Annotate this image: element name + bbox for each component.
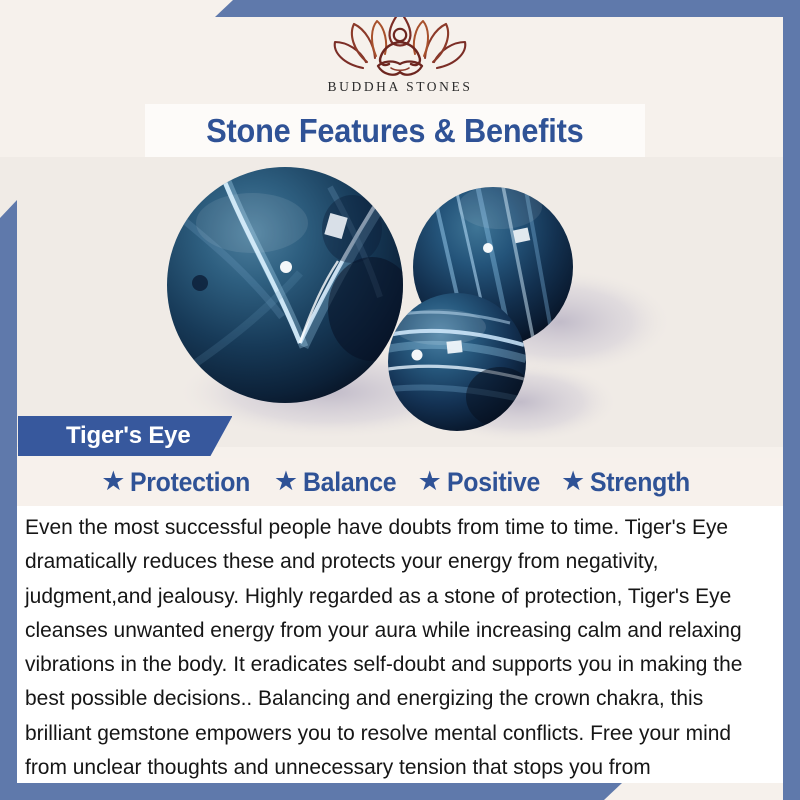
infographic-page: BUDDHA STONES Stone Features & Benefits — [0, 0, 800, 800]
benefit-label: Protection — [130, 467, 250, 498]
star-icon: ★ — [418, 468, 442, 495]
product-name-banner: Tiger's Eye — [18, 416, 232, 456]
tigers-eye-spheres-image — [0, 157, 800, 447]
benefit-label: Balance — [303, 467, 396, 498]
star-icon: ★ — [274, 468, 298, 495]
frame-band-bottom — [0, 783, 622, 800]
benefit-item-protection: ★ Protection — [101, 467, 261, 498]
benefit-item-balance: ★ Balance — [274, 467, 405, 498]
benefit-item-strength: ★ Strength — [561, 467, 699, 498]
title-banner: Stone Features & Benefits — [145, 104, 645, 157]
description-block: Even the most successful people have dou… — [17, 506, 783, 783]
star-icon: ★ — [561, 468, 585, 495]
description-text: Even the most successful people have dou… — [25, 510, 750, 800]
brand-name: BUDDHA STONES — [310, 79, 490, 95]
product-name: Tiger's Eye — [66, 422, 190, 450]
frame-band-right — [783, 0, 800, 800]
frame-band-top — [215, 0, 800, 17]
product-photo — [0, 157, 800, 447]
benefits-row: ★ Protection ★ Balance ★ Positive ★ Stre… — [0, 458, 800, 506]
benefit-item-positive: ★ Positive — [418, 467, 548, 498]
benefit-label: Positive — [447, 467, 540, 498]
frame-band-left — [0, 200, 17, 800]
page-title: Stone Features & Benefits — [206, 112, 583, 150]
star-icon: ★ — [101, 468, 125, 495]
benefit-label: Strength — [590, 467, 690, 498]
brand-logo: BUDDHA STONES — [310, 6, 490, 95]
